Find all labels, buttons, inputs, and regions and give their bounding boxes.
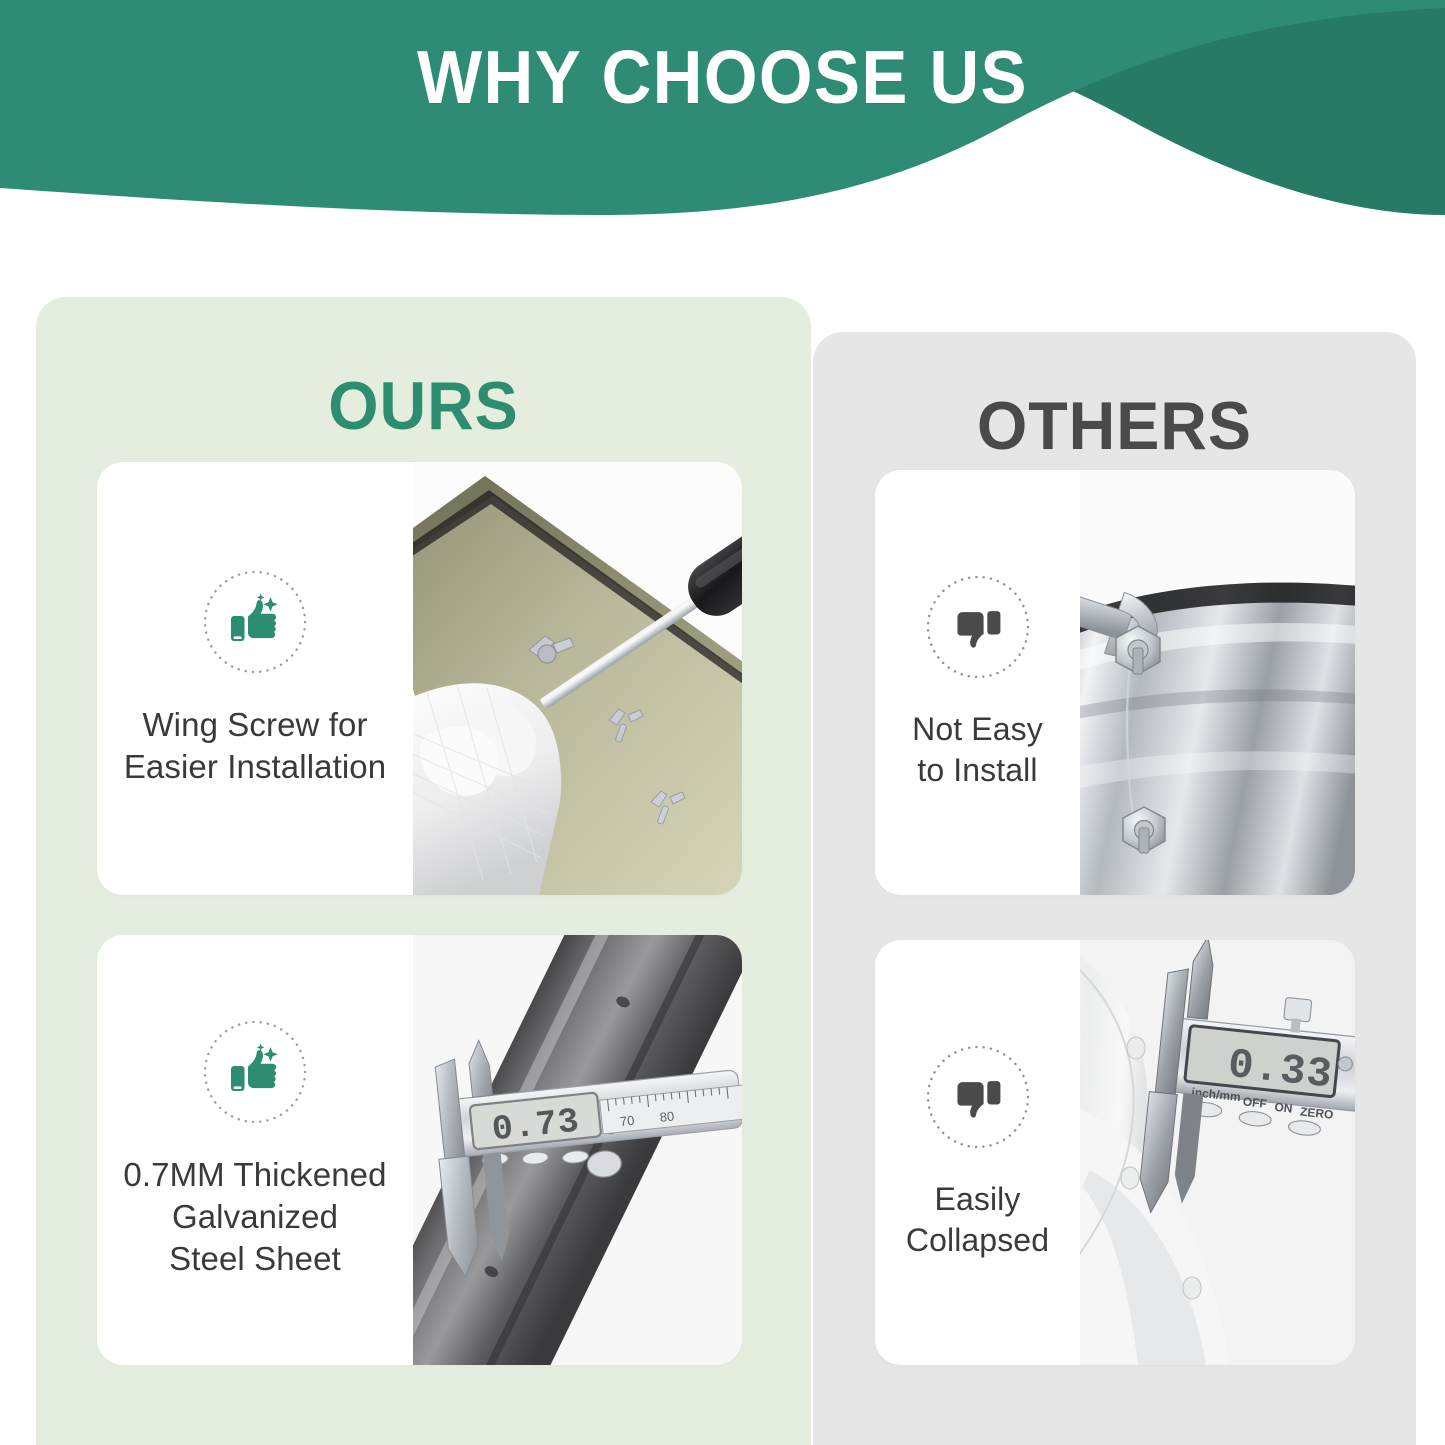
dotted-circle-border	[203, 570, 307, 674]
thumbs-up-sparkle-icon	[203, 1020, 307, 1124]
svg-text:70: 70	[619, 1113, 635, 1129]
panel-heading-others: OTHERS	[828, 387, 1401, 465]
dotted-circle-border	[203, 1020, 307, 1124]
comparison-card-others-1: Not Easy to Install	[875, 470, 1355, 895]
comparison-card-ours-2: 0.7MM Thickened Galvanized Steel Sheet	[97, 935, 742, 1365]
card-text-block: 0.7MM Thickened Galvanized Steel Sheet	[97, 935, 413, 1365]
header-band: WHY CHOOSE US	[0, 0, 1445, 215]
thumbs-up-sparkle-icon	[203, 570, 307, 674]
thumbs-down-icon	[926, 575, 1030, 679]
photo-artwork	[1080, 470, 1355, 895]
dotted-circle-border	[926, 1045, 1030, 1149]
svg-text:80: 80	[659, 1108, 675, 1124]
svg-text:ON: ON	[1274, 1100, 1293, 1116]
card-caption: 0.7MM Thickened Galvanized Steel Sheet	[123, 1154, 386, 1280]
thumbs-down-icon	[926, 1045, 1030, 1149]
card-caption: Easily Collapsed	[906, 1179, 1049, 1260]
card-text-block: Easily Collapsed	[875, 940, 1080, 1365]
page-title: WHY CHOOSE US	[58, 34, 1387, 120]
gloved-hand-screwdriver-wing-screw-photo	[413, 462, 742, 895]
digital-caliper-measuring-thin-white-sheet-photo: 0.33 inch/mm OFF ON ZERO	[1080, 940, 1355, 1365]
photo-artwork: 0.33 inch/mm OFF ON ZERO	[1080, 940, 1355, 1365]
card-text-block: Not Easy to Install	[875, 470, 1080, 895]
wrench-tightening-bolt-on-chrome-pipe-photo	[1080, 470, 1355, 895]
svg-text:OFF: OFF	[1242, 1094, 1267, 1110]
card-text-block: Wing Screw for Easier Installation	[97, 462, 413, 895]
dotted-circle-border	[926, 575, 1030, 679]
photo-artwork: 0.73 70 80	[413, 935, 742, 1365]
panel-heading-ours: OURS	[55, 367, 791, 445]
digital-caliper-measuring-steel-tube-photo: 0.73 70 80	[413, 935, 742, 1365]
comparison-card-others-2: Easily Collapsed	[875, 940, 1355, 1365]
photo-artwork	[413, 462, 742, 895]
card-caption: Wing Screw for Easier Installation	[124, 704, 386, 788]
comparison-card-ours-1: Wing Screw for Easier Installation	[97, 462, 742, 895]
card-caption: Not Easy to Install	[912, 709, 1043, 790]
